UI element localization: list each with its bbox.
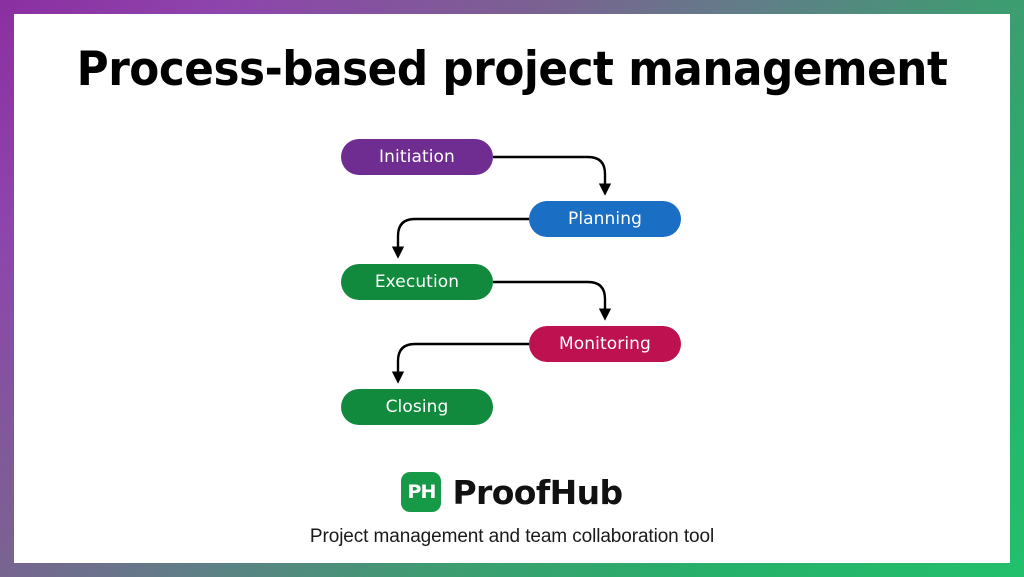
flow-node-label: Monitoring — [559, 334, 651, 354]
flow-node-label: Closing — [386, 397, 449, 417]
slide-inner-surface: Process-based project management Initiat… — [14, 14, 1010, 563]
brand-logo: PH ProofHub — [14, 472, 1010, 512]
flow-node-monitoring[interactable]: Monitoring — [529, 326, 681, 362]
slide-canvas: Process-based project management Initiat… — [0, 0, 1024, 577]
flow-node-planning[interactable]: Planning — [529, 201, 681, 237]
edge-monitoring-closing — [398, 344, 529, 380]
flow-node-label: Initiation — [379, 147, 455, 167]
edge-planning-execution — [398, 219, 529, 255]
brand-tagline: Project management and team collaboratio… — [14, 526, 1010, 548]
flow-node-initiation[interactable]: Initiation — [341, 139, 493, 175]
brand-name: ProofHub — [452, 473, 622, 512]
flow-node-label: Planning — [568, 209, 642, 229]
proofhub-logo-icon: PH — [401, 472, 441, 512]
flow-node-closing[interactable]: Closing — [341, 389, 493, 425]
flow-node-execution[interactable]: Execution — [341, 264, 493, 300]
flow-node-label: Execution — [375, 272, 459, 292]
logo-mark-text: PH — [408, 481, 436, 503]
edge-initiation-planning — [493, 157, 605, 192]
edge-execution-monitoring — [493, 282, 605, 317]
